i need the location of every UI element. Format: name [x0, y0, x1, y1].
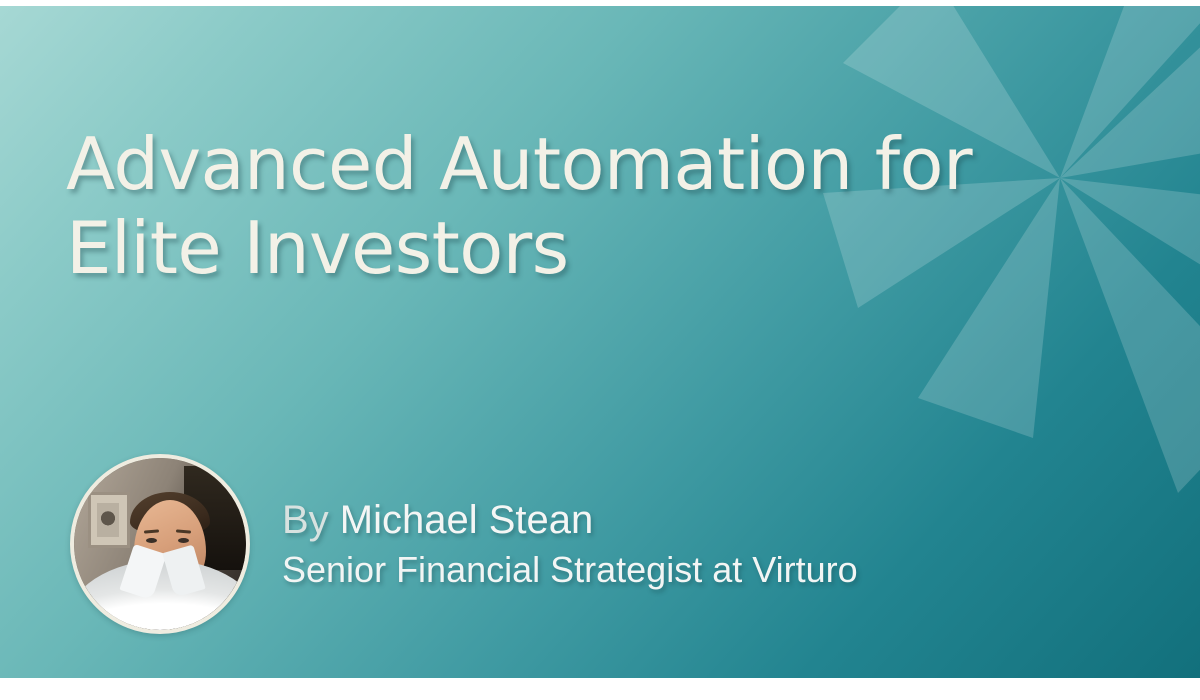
author-text-block: By Michael Stean Senior Financial Strate… [282, 494, 858, 594]
photo-eye-left [146, 538, 157, 543]
title-slide: Advanced Automation for Elite Investors [0, 6, 1200, 678]
author-role: Senior Financial Strategist at Virturo [282, 546, 858, 594]
author-block: By Michael Stean Senior Financial Strate… [70, 454, 858, 634]
photo-wall-frame-art [97, 503, 119, 537]
avatar [70, 454, 250, 634]
photo-wall-frame [88, 492, 130, 548]
photo-eye-right [178, 538, 189, 543]
title-line-2: Elite Investors [66, 206, 1176, 290]
avatar-photo [74, 458, 246, 630]
author-name: Michael Stean [340, 498, 593, 542]
author-byline: By Michael Stean [282, 494, 858, 546]
page-bottom-margin [0, 678, 1200, 700]
byline-prefix: By [282, 498, 340, 542]
slide-page: Advanced Automation for Elite Investors [0, 0, 1200, 700]
page-title: Advanced Automation for Elite Investors [66, 122, 1176, 290]
title-line-1: Advanced Automation for [66, 122, 1176, 206]
